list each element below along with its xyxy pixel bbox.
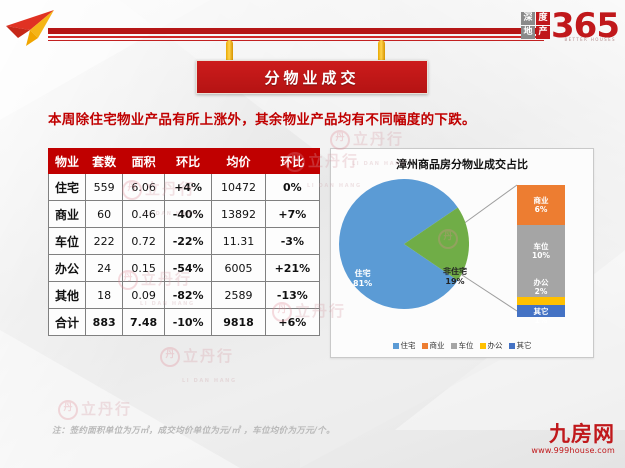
pie-plot: 住宅 81% 非住宅 19% xyxy=(339,179,469,309)
legend-swatch-icon xyxy=(393,343,399,349)
legend-item-other: 其它 xyxy=(509,340,532,351)
cell-price: 13892 xyxy=(212,201,265,228)
cell-area: 0.72 xyxy=(123,228,165,255)
cell-price: 2589 xyxy=(212,282,265,309)
legend-swatch-icon xyxy=(422,343,428,349)
table-row-total: 合计 883 7.48 -10% 9818 +6% xyxy=(49,309,320,336)
footnote: 注：签约面积单位为万㎡，成交均价单位为元/㎡ ，车位均价为万元/个。 xyxy=(52,424,335,436)
bar-segment-office: 办公 2% xyxy=(517,277,565,297)
background-facet xyxy=(300,360,500,468)
logo-char-chan: 产 xyxy=(536,26,550,39)
header-rule-thick xyxy=(48,28,548,34)
logo-char-shen: 深 xyxy=(521,12,535,25)
legend-swatch-icon xyxy=(509,343,515,349)
cell-area-mom: -82% xyxy=(164,282,211,309)
seal-icon: 丹 xyxy=(58,400,78,420)
logo-char-di: 地 xyxy=(521,26,535,39)
background-facet xyxy=(0,330,240,468)
cell-price-mom: +21% xyxy=(265,255,319,282)
bar-segment-commercial: 商业 6% xyxy=(517,185,565,225)
slide-canvas: 深 地 度 产 365 BETTER HOUSES 分物业成交 本周除住宅物业产… xyxy=(0,0,625,468)
legend-item-office: 办公 xyxy=(480,340,503,351)
cell-units: 883 xyxy=(86,309,123,336)
section-title-text: 分物业成交 xyxy=(264,67,359,88)
legend-swatch-icon xyxy=(451,343,457,349)
section-title-plaque: 分物业成交 xyxy=(196,60,428,94)
cell-price-mom: 0% xyxy=(265,174,319,201)
watermark: 丹立丹行 xyxy=(58,398,132,420)
cell-property: 住宅 xyxy=(49,174,86,201)
logo-char-du: 度 xyxy=(536,12,550,25)
logo-char-column-left: 深 地 xyxy=(521,12,535,40)
cell-units: 222 xyxy=(86,228,123,255)
cell-property: 其他 xyxy=(49,282,86,309)
legend-item-commercial: 商业 xyxy=(422,340,445,351)
column-header-area: 面积 xyxy=(123,149,165,174)
table-row: 商业 60 0.46 -40% 13892 +7% xyxy=(49,201,320,228)
column-header-area-mom: 环比 xyxy=(164,149,211,174)
logo-char-column-right: 度 产 xyxy=(536,12,550,40)
stacked-bar-breakdown: 商业 6% 车位 10% 办公 2% 其它 1% xyxy=(517,185,565,311)
watermark: 丹立丹行LI DAN HANG xyxy=(160,345,237,386)
bar-segment-yellow xyxy=(517,297,565,305)
cell-area-mom: -22% xyxy=(164,228,211,255)
seal-icon: 丹 xyxy=(330,130,350,150)
cell-price: 6005 xyxy=(212,255,265,282)
cell-area-mom: +4% xyxy=(164,174,211,201)
title-plaque-group: 分物业成交 xyxy=(196,40,426,92)
subtitle-text: 本周除住宅物业产品有所上涨外，其余物业产品均有不同幅度的下跌。 xyxy=(48,108,568,128)
cell-property: 商业 xyxy=(49,201,86,228)
table-row: 住宅 559 6.06 +4% 10472 0% xyxy=(49,174,320,201)
column-header-price-mom: 环比 xyxy=(265,149,319,174)
cell-units: 60 xyxy=(86,201,123,228)
legend-swatch-icon xyxy=(480,343,486,349)
column-header-price: 均价 xyxy=(212,149,265,174)
chart-legend: 住宅 商业 车位 办公 其它 xyxy=(331,340,593,351)
table-row: 车位 222 0.72 -22% 11.31 -3% xyxy=(49,228,320,255)
cell-area: 7.48 xyxy=(123,309,165,336)
cell-price: 10472 xyxy=(212,174,265,201)
property-transaction-table: 物业 套数 面积 环比 均价 环比 住宅 559 6.06 +4% 10472 … xyxy=(48,148,320,336)
cell-area-mom: -54% xyxy=(164,255,211,282)
cell-property: 合计 xyxy=(49,309,86,336)
cell-price-mom: -3% xyxy=(265,228,319,255)
seal-icon: 丹 xyxy=(160,347,180,367)
cell-price-mom: +6% xyxy=(265,309,319,336)
legend-item-parking: 车位 xyxy=(451,340,474,351)
cell-area: 0.09 xyxy=(123,282,165,309)
table-row: 办公 24 0.15 -54% 6005 +21% xyxy=(49,255,320,282)
cell-area: 0.46 xyxy=(123,201,165,228)
brand-name: 九房网 xyxy=(531,424,615,445)
bar-segment-parking: 车位 10% xyxy=(517,225,565,277)
cell-units: 18 xyxy=(86,282,123,309)
logo-tagline: BETTER HOUSES xyxy=(564,37,616,42)
brand-logo-365: 深 地 度 产 365 BETTER HOUSES xyxy=(521,8,619,44)
legend-item-residential: 住宅 xyxy=(393,340,416,351)
cell-price-mom: -13% xyxy=(265,282,319,309)
cell-price: 9818 xyxy=(212,309,265,336)
column-header-units: 套数 xyxy=(86,149,123,174)
cell-area-mom: -10% xyxy=(164,309,211,336)
table-row: 其他 18 0.09 -82% 2589 -13% xyxy=(49,282,320,309)
brand-url: www.999house.com xyxy=(531,446,615,455)
cell-property: 办公 xyxy=(49,255,86,282)
cell-price: 11.31 xyxy=(212,228,265,255)
header-rule-thin xyxy=(48,36,548,38)
cell-area-mom: -40% xyxy=(164,201,211,228)
cell-units: 559 xyxy=(86,174,123,201)
pie-slice-label-non-residential: 非住宅 19% xyxy=(443,267,467,287)
table-header-row: 物业 套数 面积 环比 均价 环比 xyxy=(49,149,320,174)
cell-area: 0.15 xyxy=(123,255,165,282)
cell-area: 6.06 xyxy=(123,174,165,201)
column-header-property: 物业 xyxy=(49,149,86,174)
bar-segment-other: 其它 1% xyxy=(517,305,565,317)
footer-brand-logo: 九房网 www.999house.com xyxy=(531,424,615,455)
pie-slice-label-residential: 住宅 81% xyxy=(353,269,372,289)
cell-property: 车位 xyxy=(49,228,86,255)
cell-units: 24 xyxy=(86,255,123,282)
pie-of-pie-chart: 漳州商品房分物业成交占比 住宅 81% 非住宅 19% xyxy=(330,148,594,358)
cell-price-mom: +7% xyxy=(265,201,319,228)
